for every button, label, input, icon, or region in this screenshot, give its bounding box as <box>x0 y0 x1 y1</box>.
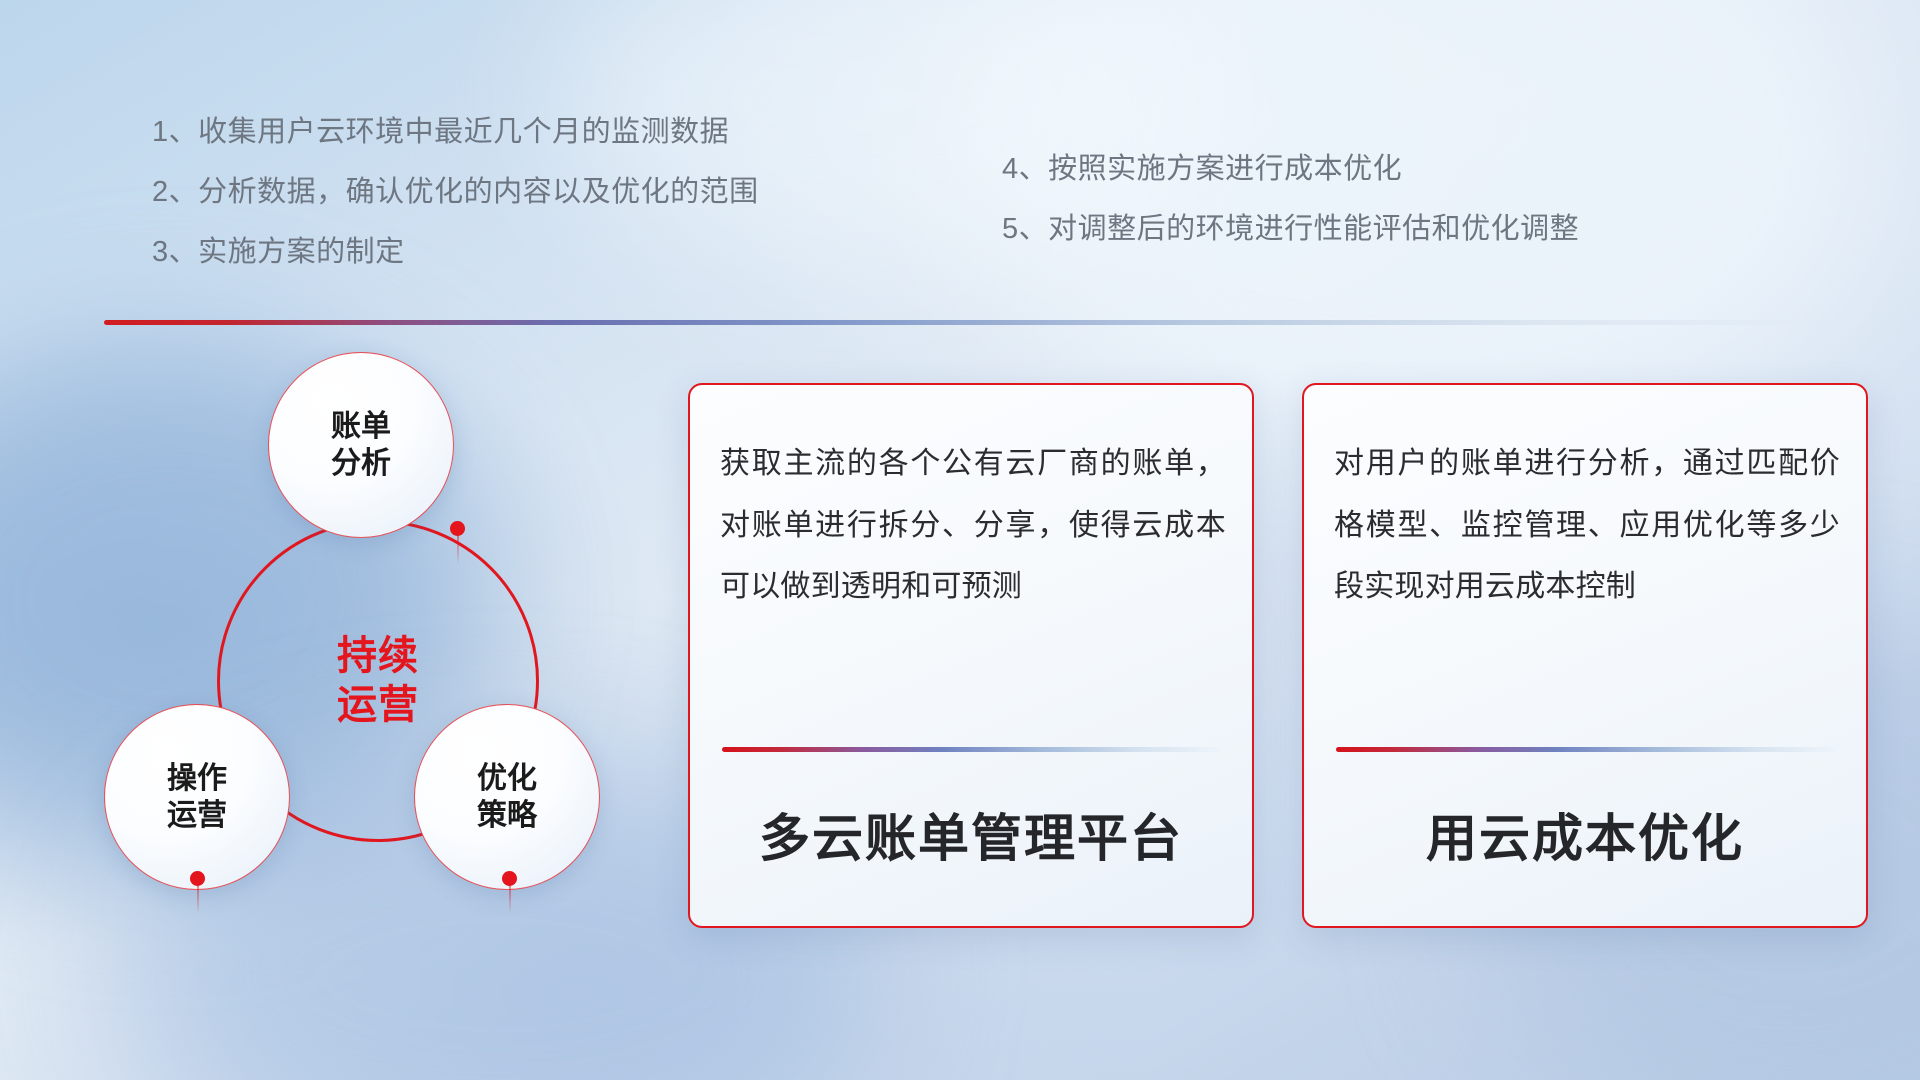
step-item-1: 1、收集用户云环境中最近几个月的监测数据 <box>152 118 759 147</box>
step-item-5: 5、对调整后的环境进行性能评估和优化调整 <box>1002 215 1579 244</box>
steps-left-column: 1、收集用户云环境中最近几个月的监测数据 2、分析数据，确认优化的内容以及优化的… <box>152 118 759 298</box>
diagram-connector-left <box>197 884 199 914</box>
diagram-node-bill-analysis[interactable]: 账单 分析 <box>268 352 454 538</box>
continuous-operation-diagram: 持续 运营 账单 分析 操作 运营 优化 策略 <box>96 352 656 952</box>
diagram-node-ops-operation[interactable]: 操作 运营 <box>104 704 290 890</box>
node-label-line1: 优化 <box>477 760 537 797</box>
card-cloud-cost-optimization[interactable]: 对用户的账单进行分析，通过匹配价格模型、监控管理、应用优化等多少段实现对用云成本… <box>1302 383 1868 928</box>
node-label-line1: 账单 <box>331 408 391 445</box>
node-label-line1: 操作 <box>167 760 227 797</box>
step-item-2: 2、分析数据，确认优化的内容以及优化的范围 <box>152 178 759 207</box>
diagram-dot-top <box>450 521 465 536</box>
diagram-connector-top <box>457 534 459 564</box>
step-item-4: 4、按照实施方案进行成本优化 <box>1002 155 1579 184</box>
center-label-line1: 持续 <box>337 632 419 681</box>
diagram-node-optimize-policy[interactable]: 优化 策略 <box>414 704 600 890</box>
header-divider-rule <box>104 320 1864 325</box>
node-label-line2: 策略 <box>477 797 537 834</box>
card-body-text: 对用户的账单进行分析，通过匹配价格模型、监控管理、应用优化等多少段实现对用云成本… <box>1334 433 1840 618</box>
card-divider-rule <box>1336 747 1836 752</box>
card-multi-cloud-bill-platform[interactable]: 获取主流的各个公有云厂商的账单，对账单进行拆分、分享，使得云成本可以做到透明和可… <box>688 383 1254 928</box>
card-body-text: 获取主流的各个公有云厂商的账单，对账单进行拆分、分享，使得云成本可以做到透明和可… <box>720 433 1226 618</box>
step-item-3: 3、实施方案的制定 <box>152 238 759 267</box>
steps-right-column: 4、按照实施方案进行成本优化 5、对调整后的环境进行性能评估和优化调整 <box>1002 155 1579 275</box>
diagram-dot-left <box>190 871 205 886</box>
node-label-line2: 分析 <box>331 445 391 482</box>
card-divider-rule <box>722 747 1222 752</box>
card-title: 用云成本优化 <box>1304 797 1866 871</box>
card-title: 多云账单管理平台 <box>690 797 1252 871</box>
node-label-line2: 运营 <box>167 797 227 834</box>
center-label-line2: 运营 <box>337 681 419 730</box>
diagram-connector-right <box>509 884 511 914</box>
diagram-dot-right <box>502 871 517 886</box>
slide-canvas: 1、收集用户云环境中最近几个月的监测数据 2、分析数据，确认优化的内容以及优化的… <box>0 0 1920 1080</box>
